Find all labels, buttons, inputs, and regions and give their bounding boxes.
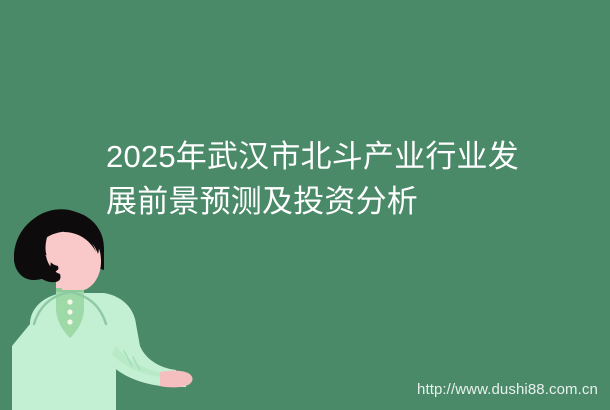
poster-title-line-2: 展前景预测及投资分析	[106, 184, 418, 219]
watermark-url: http://www.dushi88.com.cn	[417, 381, 598, 399]
poster-title-line-1: 2025年武汉市北斗产业行业发	[106, 139, 519, 174]
hand	[160, 371, 193, 388]
person-pointing-illustration	[0, 196, 230, 410]
poster-title: 2025年武汉市北斗产业行业发展前景预测及投资分析	[106, 134, 554, 224]
collar-buttons	[67, 299, 72, 324]
sweater-body	[12, 293, 176, 410]
poster-canvas: 2025年武汉市北斗产业行业发展前景预测及投资分析 http://www.dus…	[0, 0, 610, 410]
